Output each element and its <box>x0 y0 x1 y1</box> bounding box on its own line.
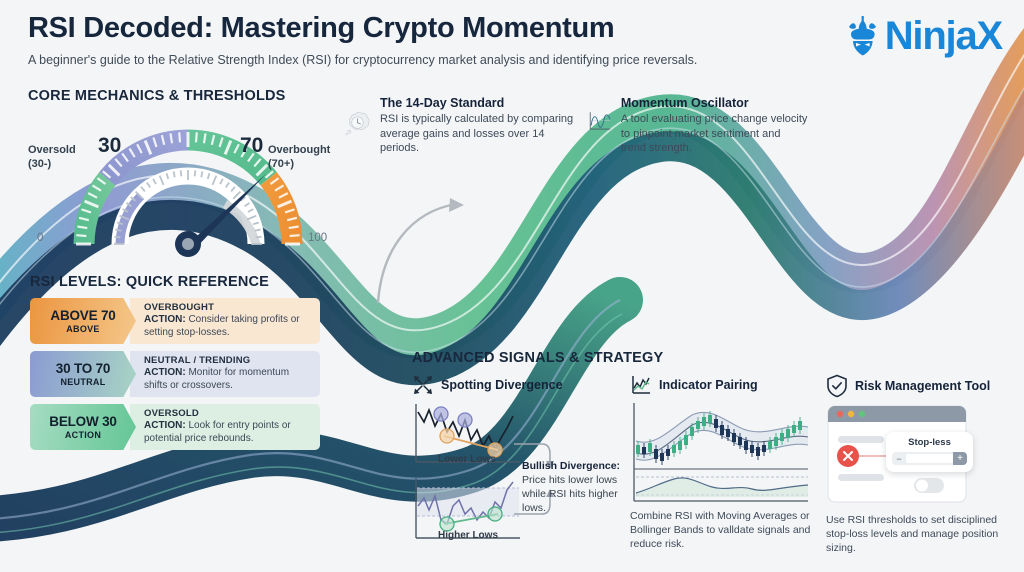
table-row[interactable]: BELOW 30 ACTION OVERSOLD ACTION: Look fo… <box>30 404 320 450</box>
callout-body: A tool evaluating price change velocity … <box>621 112 808 156</box>
level-detail: OVERSOLD ACTION: Look for entry points o… <box>130 404 320 450</box>
level-range-badge: 30 TO 70 NEUTRAL <box>30 351 136 397</box>
chart-caption-lower-lows: Lower Lows <box>438 454 496 465</box>
candlestick-bollinger-chart <box>630 401 810 509</box>
core-mechanics-heading: CORE MECHANICS & THRESHOLDS <box>28 88 358 104</box>
brand-name: NinjaX <box>885 16 1002 56</box>
clock-thought-bubble-icon <box>344 96 371 154</box>
ninja-helmet-icon <box>843 14 883 58</box>
divergence-note: Bullish Divergence: Price hits lower low… <box>522 460 622 515</box>
rsi-gauge: Oversold (30-) Overbought (70+) 30 70 0 … <box>28 112 348 262</box>
action-label: ACTION: <box>144 367 186 378</box>
level-range-badge: ABOVE 70 ABOVE <box>30 298 136 344</box>
level-action: ACTION: Look for entry points or potenti… <box>144 420 312 446</box>
callout-body: RSI is typically calculated by comparing… <box>380 112 574 156</box>
divergence-note-body: Price hits lower lows while RSI hits hig… <box>522 474 618 514</box>
level-detail: OVERBOUGHT ACTION: Consider taking profi… <box>130 298 320 344</box>
stop-loss-slider-track[interactable] <box>906 454 953 463</box>
oscillator-chart-icon <box>588 96 612 148</box>
table-row[interactable]: ABOVE 70 ABOVE OVERBOUGHT ACTION: Consid… <box>30 298 320 344</box>
panel-indicator-pairing: Indicator Pairing Combine RSI with Movin… <box>630 374 815 551</box>
gauge-oversold-label: Oversold (30-) <box>28 144 76 172</box>
stop-loss-popover[interactable]: Stop-less − + <box>886 432 973 472</box>
callout-title: Momentum Oscillator <box>621 96 808 110</box>
level-range-badge: BELOW 30 ACTION <box>30 404 136 450</box>
gauge-overbought-label: Overbought (70+) <box>268 144 330 172</box>
diverging-arrows-icon <box>412 374 434 396</box>
callout-14-day-standard: The 14-Day Standard RSI is typically cal… <box>344 96 574 156</box>
level-range: ABOVE 70 <box>50 308 115 323</box>
callout-momentum-oscillator: Momentum Oscillator A tool evaluating pr… <box>588 96 808 156</box>
stepper-increment-button[interactable]: + <box>953 452 967 465</box>
panel-title: Indicator Pairing <box>659 378 758 392</box>
header: RSI Decoded: Mastering Crypto Momentum A… <box>28 12 697 69</box>
level-detail: NEUTRAL / TRENDING ACTION: Monitor for m… <box>130 351 320 397</box>
level-state: OVERBOUGHT <box>144 302 312 313</box>
gauge-graphic <box>28 112 348 262</box>
advanced-signals-heading: ADVANCED SIGNALS & STRATEGY <box>412 350 663 366</box>
panel-body: Use RSI thresholds to set disciplined st… <box>826 513 1016 555</box>
action-label: ACTION: <box>144 420 186 431</box>
level-tag: ABOVE <box>66 324 100 334</box>
chart-caption-higher-lows: Higher Lows <box>438 530 498 541</box>
callout-title: The 14-Day Standard <box>380 96 574 110</box>
stepper-decrement-button[interactable]: − <box>892 454 906 464</box>
level-tag: NEUTRAL <box>60 377 105 387</box>
level-action: ACTION: Consider taking profits or setti… <box>144 314 312 340</box>
level-range: BELOW 30 <box>49 414 116 429</box>
panel-title: Spotting Divergence <box>441 378 563 392</box>
trend-line-chart-icon <box>630 374 652 396</box>
divergence-note-title: Bullish Divergence: <box>522 460 620 472</box>
level-state: NEUTRAL / TRENDING <box>144 355 312 366</box>
stop-loss-label: Stop-less <box>892 437 967 448</box>
level-range: 30 TO 70 <box>56 361 110 376</box>
level-action: ACTION: Monitor for momentum shifts or c… <box>144 367 312 393</box>
panel-spotting-divergence: Spotting Divergence Lower Lows <box>412 374 627 552</box>
panel-risk-management: Risk Management Tool Stop-less − <box>826 374 1016 555</box>
core-mechanics-section: CORE MECHANICS & THRESHOLDS <box>28 88 358 262</box>
page-subtitle: A beginner's guide to the Relative Stren… <box>28 52 697 68</box>
brand-logo[interactable]: NinjaX <box>843 14 1002 58</box>
gauge-threshold-high: 70 <box>240 134 263 158</box>
panel-body: Combine RSI with Moving Averages or Boll… <box>630 509 815 551</box>
page-title: RSI Decoded: Mastering Crypto Momentum <box>28 12 697 45</box>
panel-title: Risk Management Tool <box>855 379 990 393</box>
gauge-threshold-low: 30 <box>98 134 121 158</box>
infographic-root: RSI Decoded: Mastering Crypto Momentum A… <box>0 0 1024 572</box>
rsi-levels-section: RSI LEVELS: QUICK REFERENCE ABOVE 70 ABO… <box>30 274 320 450</box>
action-label: ACTION: <box>144 314 186 325</box>
level-tag: ACTION <box>65 430 101 440</box>
gauge-scale-max: 100 <box>308 232 327 244</box>
stop-loss-widget-mockup: Stop-less − + <box>826 404 991 509</box>
level-state: OVERSOLD <box>144 408 312 419</box>
shield-check-icon <box>826 374 848 398</box>
table-row[interactable]: 30 TO 70 NEUTRAL NEUTRAL / TRENDING ACTI… <box>30 351 320 397</box>
rsi-levels-heading: RSI LEVELS: QUICK REFERENCE <box>30 274 320 290</box>
gauge-scale-min: 0 <box>37 232 43 244</box>
